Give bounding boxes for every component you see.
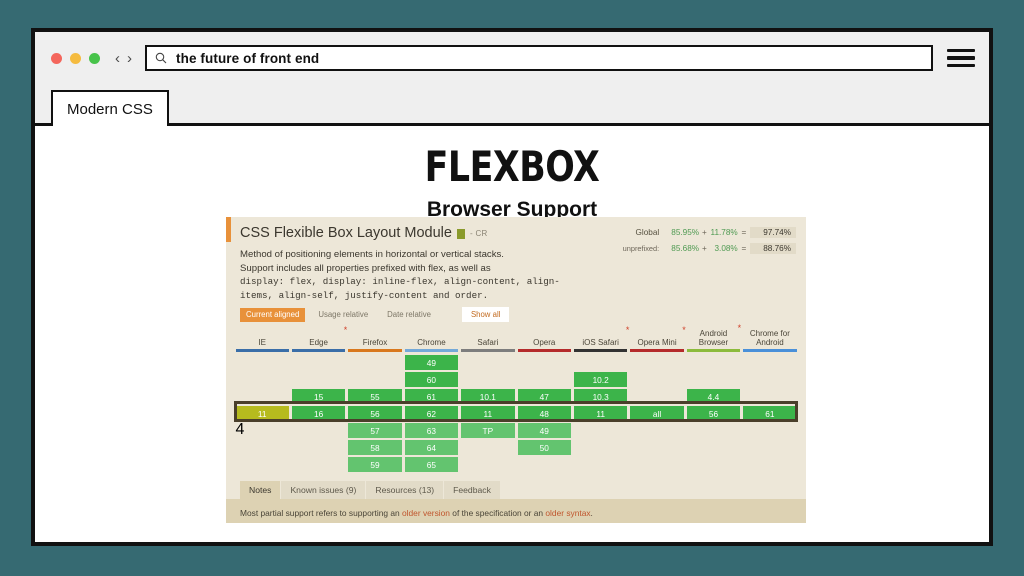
tab-modern-css[interactable]: Modern CSS — [51, 90, 169, 126]
browser-color-rule — [405, 349, 458, 352]
close-window-button[interactable] — [51, 53, 62, 64]
footer-note-1: Most partial support refers to supportin… — [240, 508, 792, 519]
widget-footer-notes: Most partial support refers to supportin… — [226, 499, 806, 523]
show-all-button[interactable]: Show all — [462, 307, 509, 322]
version-cell[interactable]: 15 — [292, 389, 345, 404]
browser-color-rule — [236, 349, 289, 352]
version-cells: 49606162636465 — [405, 355, 458, 472]
navigation-buttons: ‹ › — [115, 51, 132, 66]
footer-note-1-a: Most partial support refers to supportin… — [240, 508, 402, 518]
version-cell[interactable]: 63 — [405, 423, 458, 438]
version-cell-empty — [292, 372, 345, 387]
tab-notes[interactable]: Notes — [240, 481, 280, 499]
browser-column-chrome-for-android: Chrome for Android61 — [742, 325, 798, 472]
footer-note-1-c: . — [591, 508, 593, 518]
version-cell[interactable]: TP — [461, 423, 514, 438]
stats-supported: 85.95% — [669, 228, 699, 237]
description-line-4: items, align-self, justify-content and o… — [240, 290, 488, 301]
browser-color-rule — [461, 349, 514, 352]
version-cell[interactable]: 56 — [687, 406, 740, 421]
version-cell-empty — [461, 372, 514, 387]
window-traffic-lights — [51, 53, 100, 64]
stats-total: 97.74% — [750, 227, 796, 238]
stats-row-unprefixed: unprefixed: 85.68% + 3.08% = 88.76% — [596, 243, 796, 254]
browser-column-safari: Safari10.111TP — [460, 325, 516, 472]
minimize-window-button[interactable] — [70, 53, 81, 64]
version-cell[interactable]: 61 — [743, 406, 796, 421]
search-icon — [155, 52, 167, 64]
version-cell-empty — [292, 355, 345, 370]
version-cell[interactable]: 49 — [405, 355, 458, 370]
version-cell[interactable]: 10.2 — [574, 372, 627, 387]
version-cell-empty — [630, 355, 683, 370]
browser-column-edge: Edge*1516 — [290, 325, 346, 472]
version-cell[interactable]: 65 — [405, 457, 458, 472]
back-icon[interactable]: ‹ — [115, 51, 120, 66]
version-cell[interactable]: all — [630, 406, 683, 421]
forward-icon[interactable]: › — [127, 51, 132, 66]
description-line-1: Method of positioning elements in horizo… — [240, 248, 580, 262]
description-line-3: display: flex, display: inline-flex, ali… — [240, 276, 560, 287]
version-cell-empty — [743, 389, 796, 404]
version-cell[interactable]: 50 — [518, 440, 571, 455]
version-cells: 47484950 — [518, 355, 571, 455]
version-cell[interactable]: 10.1 — [461, 389, 514, 404]
tab-label: Modern CSS — [67, 101, 153, 118]
version-cell[interactable]: 16 — [292, 406, 345, 421]
filter-current-aligned[interactable]: Current aligned — [240, 308, 305, 322]
version-cells: 5556575859 — [348, 355, 401, 472]
browser-name-label: Chrome — [405, 325, 458, 349]
version-cell-empty — [518, 372, 571, 387]
filter-button-group: Current aligned Usage relative Date rela… — [226, 302, 806, 325]
stats-equals: = — [738, 244, 750, 253]
tab-resources[interactable]: Resources (13) — [366, 481, 443, 499]
browser-column-ie: IE114 — [234, 325, 290, 472]
spec-status: - CR — [470, 229, 488, 238]
address-bar[interactable]: the future of front end — [145, 45, 933, 71]
caniuse-widget: CSS Flexible Box Layout Module - CR Meth… — [226, 217, 806, 523]
version-cell-empty — [743, 355, 796, 370]
version-cell[interactable]: 56 — [348, 406, 401, 421]
stats-label: Global — [596, 228, 669, 237]
version-cell-empty — [348, 372, 401, 387]
browser-color-rule — [630, 349, 683, 352]
browser-column-android-browser: Android Browser*4.456 — [685, 325, 741, 472]
stats-partial: 11.78% — [710, 228, 738, 237]
browser-color-rule — [743, 349, 796, 352]
browser-name-label: Chrome for Android — [743, 325, 796, 349]
browser-name-label: IE — [236, 325, 289, 349]
widget-header: CSS Flexible Box Layout Module - CR Meth… — [226, 217, 806, 302]
version-cell[interactable]: 48 — [518, 406, 571, 421]
version-cell-empty — [687, 372, 740, 387]
version-cell[interactable]: 55 — [348, 389, 401, 404]
older-syntax-link[interactable]: older syntax — [545, 508, 590, 518]
version-cells: 114 — [236, 355, 289, 439]
browser-name-label: Android Browser* — [687, 325, 740, 349]
version-cell-empty — [518, 355, 571, 370]
browser-name-label: Firefox — [348, 325, 401, 349]
version-cells: 4.456 — [687, 355, 740, 421]
version-cell[interactable]: 61 — [405, 389, 458, 404]
version-cell-empty — [687, 355, 740, 370]
version-cells: all — [630, 355, 683, 421]
browser-color-rule — [574, 349, 627, 352]
version-cell[interactable]: 62 — [405, 406, 458, 421]
description-line-2: Support includes all properties prefixed… — [240, 262, 580, 276]
version-cell-empty — [348, 355, 401, 370]
older-version-link[interactable]: older version — [402, 508, 450, 518]
browser-name-label: Opera Mini* — [630, 325, 683, 349]
version-cell-empty — [630, 389, 683, 404]
browser-column-opera-mini: Opera Mini*all — [629, 325, 685, 472]
filter-usage-relative[interactable]: Usage relative — [312, 308, 374, 322]
version-cell-empty — [461, 355, 514, 370]
stats-plus: + — [699, 228, 710, 237]
address-bar-text: the future of front end — [176, 51, 319, 66]
version-cell[interactable]: 57 — [348, 423, 401, 438]
feature-description: Method of positioning elements in horizo… — [240, 248, 580, 302]
stats-row-global: Global 85.95% + 11.78% = 97.74% — [596, 227, 796, 238]
version-cell[interactable]: 64 — [405, 440, 458, 455]
stats-equals: = — [738, 228, 750, 237]
stats-supported: 85.68% — [669, 244, 699, 253]
version-cells: 10.111TP — [461, 355, 514, 438]
widget-tab-bar: Notes Known issues (9) Resources (13) Fe… — [226, 481, 806, 499]
version-cell[interactable]: 59 — [348, 457, 401, 472]
version-cell-empty — [236, 389, 289, 404]
browser-name-label: Safari — [461, 325, 514, 349]
browser-name-label: Edge* — [292, 325, 345, 349]
browser-column-chrome: Chrome49606162636465 — [403, 325, 459, 472]
version-cell[interactable]: 11 — [574, 406, 627, 421]
browser-column-ios-safari: iOS Safari*10.210.311 — [572, 325, 628, 472]
version-cell[interactable]: 60 — [405, 372, 458, 387]
browser-color-rule — [292, 349, 345, 352]
global-usage-stats: Global 85.95% + 11.78% = 97.74% unprefix… — [596, 227, 796, 259]
feature-title: CSS Flexible Box Layout Module — [240, 225, 452, 241]
tab-known-issues[interactable]: Known issues (9) — [281, 481, 365, 499]
version-cell-empty — [574, 355, 627, 370]
browser-chrome-bar: ‹ › the future of front end — [35, 32, 989, 84]
hamburger-icon[interactable] — [947, 49, 975, 68]
page-content: FLEXBOX Browser Support CSS Flexible Box… — [35, 126, 989, 542]
version-cell[interactable]: 49 — [518, 423, 571, 438]
stats-partial: 3.08% — [710, 244, 738, 253]
browser-color-rule — [518, 349, 571, 352]
version-cell-empty — [236, 355, 289, 370]
browser-support-grid: IE114Edge*1516Firefox5556575859Chrome496… — [226, 325, 806, 472]
page-title: FLEXBOX — [73, 146, 951, 188]
browser-name-label: iOS Safari* — [574, 325, 627, 349]
version-cell-empty — [743, 372, 796, 387]
version-cell[interactable]: 10.3 — [574, 389, 627, 404]
filter-date-relative[interactable]: Date relative — [381, 308, 437, 322]
footer-note-1-b: of the specification or an — [450, 508, 545, 518]
version-cell[interactable]: 4.4 — [687, 389, 740, 404]
partial-support-marker: 4 — [236, 421, 245, 438]
version-cell[interactable]: 58 — [348, 440, 401, 455]
tab-feedback[interactable]: Feedback — [444, 481, 500, 499]
tab-strip: Modern CSS — [35, 84, 989, 126]
browser-name-label: Opera — [518, 325, 571, 349]
asterisk-icon: * — [738, 324, 742, 334]
spec-document-icon — [457, 229, 465, 239]
version-cell[interactable]: 11 — [461, 406, 514, 421]
version-cells: 10.210.311 — [574, 355, 627, 421]
stats-plus: + — [699, 244, 710, 253]
version-cells: 1516 — [292, 355, 345, 421]
browser-color-rule — [687, 349, 740, 352]
browser-window: ‹ › the future of front end Modern CSS F… — [31, 28, 993, 546]
version-cell[interactable]: 47 — [518, 389, 571, 404]
browser-color-rule — [348, 349, 401, 352]
version-cell-empty — [630, 372, 683, 387]
browser-column-firefox: Firefox5556575859 — [347, 325, 403, 472]
maximize-window-button[interactable] — [89, 53, 100, 64]
version-cell-empty — [236, 372, 289, 387]
version-cell[interactable]: 11 — [236, 406, 289, 421]
version-cells: 61 — [743, 355, 796, 421]
stats-total: 88.76% — [750, 243, 796, 254]
stats-label: unprefixed: — [596, 244, 669, 253]
browser-column-opera: Opera47484950 — [516, 325, 572, 472]
